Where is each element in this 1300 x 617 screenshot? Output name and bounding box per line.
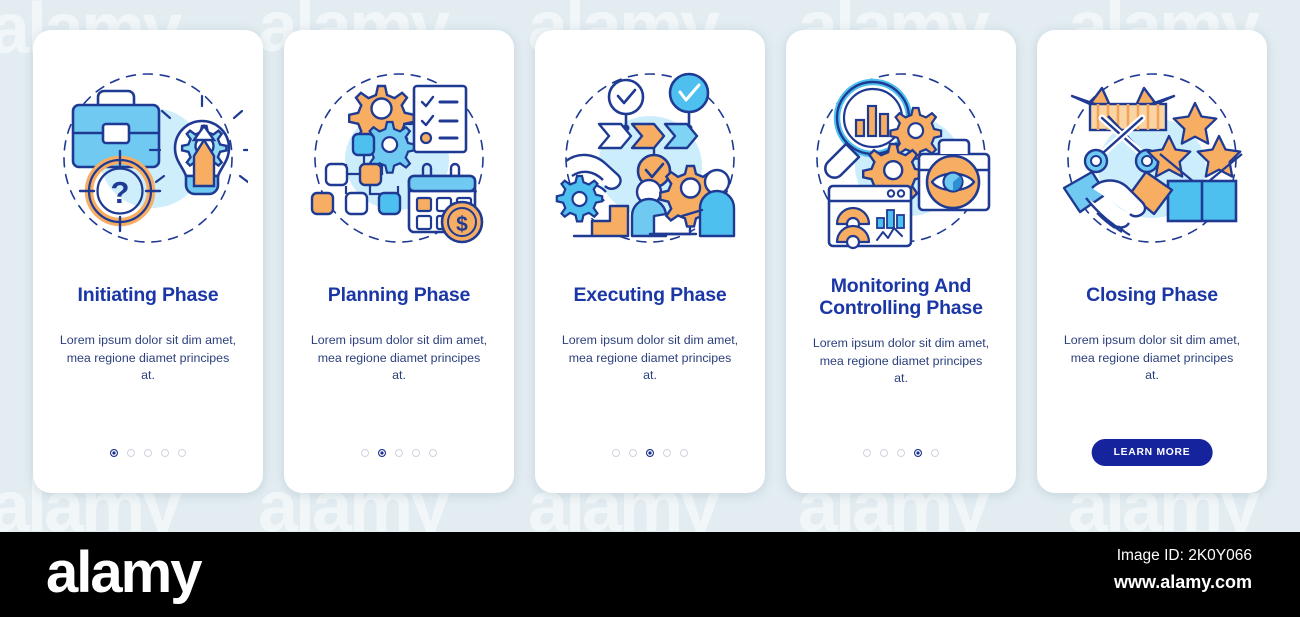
handshake-ribbon-stars-icon bbox=[1052, 58, 1252, 258]
alamy-logo: alamy bbox=[46, 544, 200, 602]
card-body-text: Lorem ipsum dolor sit dim amet, mea regi… bbox=[1063, 332, 1241, 385]
pagination-dot[interactable] bbox=[110, 449, 118, 457]
pagination-dot[interactable] bbox=[863, 449, 871, 457]
pagination-dot[interactable] bbox=[914, 449, 922, 457]
pagination-dot[interactable] bbox=[161, 449, 169, 457]
pagination-dot[interactable] bbox=[646, 449, 654, 457]
magnifier-dashboard-eye-icon bbox=[801, 58, 1001, 258]
svg-text:?: ? bbox=[111, 175, 130, 210]
card-title: Closing Phase bbox=[1078, 284, 1226, 306]
card-title: Initiating Phase bbox=[70, 284, 227, 306]
card-title: Monitoring And Controlling Phase bbox=[786, 275, 1016, 319]
alamy-footer-bar: alamy Image ID: 2K0Y066 www.alamy.com bbox=[0, 532, 1300, 617]
pagination-dot[interactable] bbox=[663, 449, 671, 457]
pagination-dot[interactable] bbox=[144, 449, 152, 457]
pagination-dots[interactable] bbox=[786, 449, 1016, 457]
pagination-dot[interactable] bbox=[680, 449, 688, 457]
card-body-text: Lorem ipsum dolor sit dim amet, mea regi… bbox=[812, 335, 990, 388]
card-closing-phase[interactable]: Closing Phase Lorem ipsum dolor sit dim … bbox=[1037, 30, 1267, 493]
pagination-dots[interactable] bbox=[284, 449, 514, 457]
pagination-dots[interactable] bbox=[33, 449, 263, 457]
card-initiating-phase[interactable]: ? Initiating Phase Lorem ipsum dolor sit… bbox=[33, 30, 263, 493]
pagination-dot[interactable] bbox=[127, 449, 135, 457]
card-title: Executing Phase bbox=[565, 284, 734, 306]
svg-text:$: $ bbox=[456, 213, 468, 236]
learn-more-button[interactable]: LEARN MORE bbox=[1092, 439, 1213, 466]
pagination-dot[interactable] bbox=[880, 449, 888, 457]
pagination-dot[interactable] bbox=[629, 449, 637, 457]
workflow-hand-team-icon bbox=[550, 58, 750, 258]
pagination-dot[interactable] bbox=[612, 449, 620, 457]
screenshot-root: alamy alamy alamy alamy alamy alamy alam… bbox=[0, 0, 1300, 617]
card-monitoring-controlling-phase[interactable]: Monitoring And Controlling Phase Lorem i… bbox=[786, 30, 1016, 493]
alamy-url: www.alamy.com bbox=[1114, 572, 1252, 593]
pagination-dot[interactable] bbox=[897, 449, 905, 457]
card-title: Planning Phase bbox=[320, 284, 478, 306]
card-executing-phase[interactable]: Executing Phase Lorem ipsum dolor sit di… bbox=[535, 30, 765, 493]
pagination-dots[interactable] bbox=[535, 449, 765, 457]
onboarding-screens-row: ? Initiating Phase Lorem ipsum dolor sit… bbox=[0, 0, 1300, 530]
pagination-dot[interactable] bbox=[931, 449, 939, 457]
gears-checklist-calendar-icon: $ bbox=[299, 58, 499, 258]
briefcase-lightbulb-target-icon: ? bbox=[48, 58, 248, 258]
image-id-label: Image ID: 2K0Y066 bbox=[1117, 547, 1252, 565]
pagination-dot[interactable] bbox=[429, 449, 437, 457]
card-planning-phase[interactable]: $ Planning Phase Lorem ipsum dolor sit d… bbox=[284, 30, 514, 493]
pagination-dot[interactable] bbox=[378, 449, 386, 457]
pagination-dot[interactable] bbox=[361, 449, 369, 457]
card-body-text: Lorem ipsum dolor sit dim amet, mea regi… bbox=[59, 332, 237, 385]
card-body-text: Lorem ipsum dolor sit dim amet, mea regi… bbox=[561, 332, 739, 385]
pagination-dot[interactable] bbox=[178, 449, 186, 457]
card-body-text: Lorem ipsum dolor sit dim amet, mea regi… bbox=[310, 332, 488, 385]
pagination-dot[interactable] bbox=[412, 449, 420, 457]
pagination-dot[interactable] bbox=[395, 449, 403, 457]
